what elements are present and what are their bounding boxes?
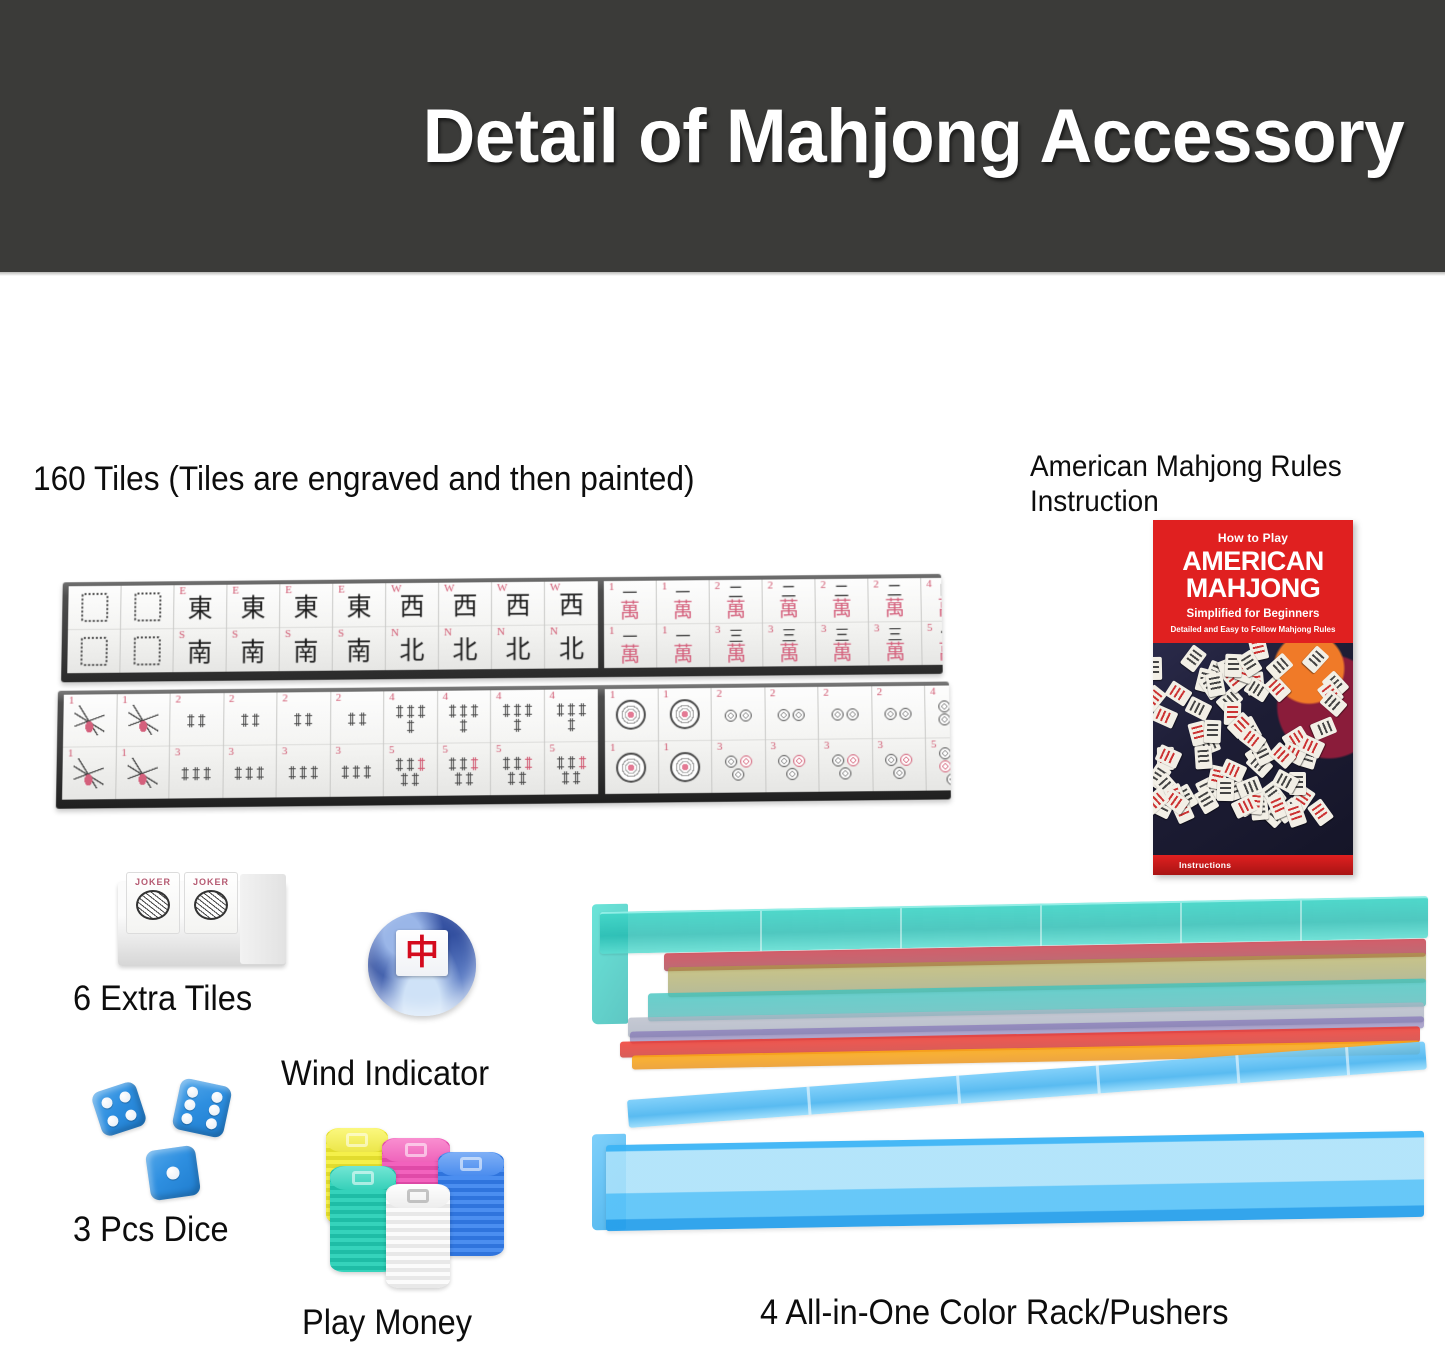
tile-index-mark: 3 xyxy=(175,747,181,758)
booklet-title-line2: MAHJONG xyxy=(1161,575,1345,602)
tile-index-mark: 1 xyxy=(610,743,616,754)
bamboo-tile-icon xyxy=(340,712,374,725)
tile-index-mark: E xyxy=(338,585,345,596)
tile-face: 3 xyxy=(330,744,383,797)
dot-tile-icon xyxy=(881,754,917,779)
dot-one-tile-icon xyxy=(670,752,700,782)
bamboo-tile-icon xyxy=(179,767,213,780)
tile-index-mark: 5 xyxy=(389,745,395,756)
crak-tile-glyph: 二萬 xyxy=(831,584,851,619)
bamboo-tile-icon xyxy=(393,704,427,732)
crak-tile-glyph: 伍萬 xyxy=(938,627,943,662)
crak-tile-glyph: 二萬 xyxy=(884,583,905,618)
tile-face: 1 xyxy=(116,694,169,747)
dot-tile-icon xyxy=(880,707,916,719)
tile-index-mark: W xyxy=(391,584,401,595)
mahjong-tile: 4四萬5伍萬 xyxy=(921,578,943,665)
mahjong-tile: 45 xyxy=(384,691,438,796)
mahjong-tile: 2二萬3三萬 xyxy=(868,578,922,665)
tile-index-mark: 4 xyxy=(926,579,932,590)
tile-index-mark: N xyxy=(550,626,558,637)
tile-face: 4 xyxy=(925,685,951,738)
tile-face: E東 xyxy=(174,585,226,629)
bamboo-tile-icon xyxy=(179,714,213,727)
tile-index-mark: 2 xyxy=(176,695,182,706)
wind-tile-glyph: 西 xyxy=(559,592,584,617)
booklet-subtitle: Simplified for Beginners xyxy=(1161,608,1345,620)
die-six xyxy=(171,1077,233,1139)
mahjong-tile xyxy=(67,586,121,673)
tile-face: 2 xyxy=(223,693,276,746)
tile-index-mark: 3 xyxy=(877,740,883,751)
wind-tile-glyph: 東 xyxy=(188,596,213,621)
tile-index-mark: 5 xyxy=(927,623,933,634)
tile-index-mark: 2 xyxy=(877,687,883,698)
crak-tile-glyph: 一萬 xyxy=(673,585,693,620)
tile-index-mark: 2 xyxy=(823,688,829,699)
tile-face: W西 xyxy=(386,583,438,627)
tile-index-mark: 2 xyxy=(717,689,723,700)
tile-face: 2二萬 xyxy=(710,580,762,624)
caption-racks-pushers: 4 All-in-One Color Rack/Pushers xyxy=(760,1292,1229,1333)
mahjong-tile: 23 xyxy=(169,693,224,799)
dot-tile-icon xyxy=(934,700,951,725)
infographic-page: Detail of Mahjong Accessory 160 Tiles (T… xyxy=(0,0,1445,1346)
wind-tile-glyph: 西 xyxy=(453,593,478,618)
tile-index-mark: 4 xyxy=(549,691,555,702)
tile-face: 5 xyxy=(544,742,598,795)
header-bar: Detail of Mahjong Accessory xyxy=(0,0,1445,272)
tile-group-winds: E東S南E東S南E東S南E東S南W西N北W西N北W西N北W西N北 xyxy=(67,581,598,673)
tile-index-mark: N xyxy=(391,628,399,639)
caption-wind-indicator: Wind Indicator xyxy=(281,1053,489,1094)
tile-face: N北 xyxy=(492,626,544,670)
tile-index-mark: N xyxy=(497,627,505,638)
tile-face: 1 xyxy=(62,747,115,800)
tile-face: 5 xyxy=(491,743,544,796)
tile-face: 3三萬 xyxy=(710,624,762,668)
tile-index-mark: 3 xyxy=(821,624,827,635)
tile-face: 3 xyxy=(819,739,872,792)
extra-tiles-side xyxy=(240,874,286,964)
blank-tile-frame-icon xyxy=(80,637,107,666)
dot-one-tile-icon xyxy=(616,753,646,783)
blue-rack-pusher xyxy=(592,1090,1432,1275)
booklet-howto-label: How to Play xyxy=(1161,531,1345,545)
mahjong-tile: 45 xyxy=(925,685,951,790)
booklet-photo-mini-tile xyxy=(1309,716,1337,740)
booklet-photo-mini-tile xyxy=(1203,720,1221,744)
tile-index-mark: 3 xyxy=(228,747,234,758)
tile-face xyxy=(120,629,173,673)
mahjong-tile: 23 xyxy=(818,686,873,791)
mahjong-tile: E東S南 xyxy=(227,584,281,671)
tile-face: 1 xyxy=(658,688,711,741)
tile-face xyxy=(121,585,174,629)
mahjong-tile: 11 xyxy=(116,694,171,800)
tile-index-mark: E xyxy=(285,585,292,596)
mahjong-tile: 11 xyxy=(62,694,117,800)
play-money-stack-white xyxy=(386,1184,450,1288)
die-four xyxy=(90,1080,148,1138)
tile-face: 5 xyxy=(437,743,490,796)
bamboo-tile-icon xyxy=(447,704,481,732)
bamboo-one-tile-icon xyxy=(128,705,158,735)
tile-face: 1 xyxy=(605,741,658,794)
mahjong-tile: E東S南 xyxy=(173,585,227,672)
bamboo-tile-icon xyxy=(340,765,374,778)
tile-index-mark: 3 xyxy=(874,623,880,634)
bamboo-tile-icon xyxy=(233,714,267,727)
wind-tile-glyph: 北 xyxy=(559,636,584,661)
tile-index-mark: 1 xyxy=(68,749,74,760)
tile-index-mark: 2 xyxy=(770,688,776,699)
tile-group-dots: 11112323232345454545 xyxy=(605,684,951,794)
bamboo-tile-icon xyxy=(447,757,481,785)
tile-face: 2 xyxy=(765,687,818,740)
tile-tray-bottom: 11112323232345454545 1111232323234545454… xyxy=(56,682,951,809)
tile-index-mark: 1 xyxy=(609,582,615,593)
tile-group-bams: 11112323232345454545 xyxy=(62,689,598,800)
mahjong-tile: 45 xyxy=(437,690,491,795)
tile-face: 2 xyxy=(712,687,765,740)
booklet-cover-header: How to Play AMERICAN MAHJONG Simplified … xyxy=(1153,520,1353,643)
mahjong-tile: 45 xyxy=(491,690,545,795)
tile-face: W西 xyxy=(439,582,491,626)
caption-tiles: 160 Tiles (Tiles are engraved and then p… xyxy=(33,459,695,499)
mahjong-tile xyxy=(120,585,174,672)
tile-index-mark: 2 xyxy=(282,693,288,704)
joker-emblem-icon xyxy=(194,890,228,920)
caption-rules-instruction: American Mahjong Rules Instruction xyxy=(1030,449,1421,520)
tile-index-mark: 1 xyxy=(610,690,616,701)
tile-face: 1一萬 xyxy=(604,625,656,669)
joker-tile: JOKER xyxy=(126,872,180,934)
tile-face xyxy=(67,630,120,674)
tile-face: E東 xyxy=(227,584,279,628)
tile-face: 4四萬 xyxy=(921,578,943,622)
bamboo-one-tile-icon xyxy=(74,705,104,735)
tile-face: N北 xyxy=(545,625,598,669)
tile-index-mark: W xyxy=(497,583,507,594)
page-title: Detail of Mahjong Accessory xyxy=(423,93,1445,180)
tile-index-mark: 5 xyxy=(549,743,555,754)
tile-face: 3三萬 xyxy=(763,623,816,667)
joker-tile: JOKER xyxy=(184,872,238,934)
bamboo-tile-icon xyxy=(286,766,320,779)
mahjong-tile: 23 xyxy=(330,691,384,796)
tile-face: 3 xyxy=(223,745,276,798)
tile-face: S南 xyxy=(173,629,226,673)
tile-face: 2 xyxy=(331,691,384,744)
tile-index-mark: 3 xyxy=(768,624,774,635)
tile-index-mark: S xyxy=(232,630,238,641)
dot-tile-icon xyxy=(827,708,863,720)
wind-indicator-tile: 中 xyxy=(396,930,448,976)
tile-index-mark: 2 xyxy=(873,579,879,590)
mahjong-tile: 23 xyxy=(223,693,278,798)
tile-index-mark: 1 xyxy=(662,582,668,593)
tile-face: 2二萬 xyxy=(815,579,868,623)
caption-extra-tiles: 6 Extra Tiles xyxy=(73,978,252,1019)
tile-face: 3 xyxy=(169,746,222,799)
bamboo-tile-icon xyxy=(286,713,320,726)
wind-tile-glyph: 南 xyxy=(346,638,371,663)
tile-index-mark: 2 xyxy=(229,694,235,705)
tile-index-mark: 5 xyxy=(496,744,502,755)
mahjong-tile: E東S南 xyxy=(280,584,334,671)
mahjong-tile: 23 xyxy=(765,687,820,792)
tile-index-mark: 3 xyxy=(335,746,341,757)
tile-index-mark: 1 xyxy=(609,626,615,637)
tile-face: W西 xyxy=(545,581,598,625)
tile-index-mark: E xyxy=(232,586,239,597)
wind-tile-glyph: 北 xyxy=(452,637,477,662)
mahjong-tile: 23 xyxy=(872,686,927,791)
booklet-photo-mini-tile xyxy=(1217,778,1234,801)
tile-face: 1一萬 xyxy=(657,580,709,624)
tile-face: 5 xyxy=(926,738,951,791)
crak-tile-glyph: 三萬 xyxy=(779,628,799,663)
rules-booklet: How to Play AMERICAN MAHJONG Simplified … xyxy=(1153,520,1353,875)
crak-tile-glyph: 三萬 xyxy=(885,627,906,662)
bamboo-tile-icon xyxy=(500,703,534,731)
bamboo-one-tile-icon xyxy=(127,758,157,788)
tile-index-mark: E xyxy=(179,586,186,597)
tile-index-mark: 3 xyxy=(282,746,288,757)
crak-tile-glyph: 二萬 xyxy=(779,584,799,619)
dot-tile-icon xyxy=(773,708,809,720)
tile-face: E東 xyxy=(280,584,332,628)
tile-index-mark: 1 xyxy=(122,695,128,706)
tile-index-mark: 3 xyxy=(717,742,723,753)
mahjong-tile: 1一萬1一萬 xyxy=(604,581,657,668)
dot-tile-icon xyxy=(827,754,863,779)
mahjong-tile: 23 xyxy=(277,692,331,797)
wind-tile-glyph: 西 xyxy=(505,593,530,618)
tile-face: 5 xyxy=(384,744,437,797)
tile-index-mark: 4 xyxy=(496,691,501,702)
tile-face: 3 xyxy=(765,740,818,793)
mahjong-tile: 45 xyxy=(544,689,598,794)
extra-tiles-stack: JOKER JOKER xyxy=(118,872,286,968)
tile-face: 3 xyxy=(872,739,925,792)
tile-index-mark: 4 xyxy=(930,687,936,698)
tile-index-mark: 2 xyxy=(715,581,721,592)
booklet-footer-bar: Instructions xyxy=(1153,855,1353,875)
tile-index-mark: 1 xyxy=(662,625,668,636)
joker-emblem-icon xyxy=(136,890,170,920)
tile-face: 2 xyxy=(277,692,330,745)
tile-face: 1 xyxy=(658,741,711,794)
booklet-photo-mini-tile xyxy=(1194,746,1212,770)
crak-tile-glyph: 二萬 xyxy=(726,585,746,620)
wind-tile-glyph: 東 xyxy=(294,595,319,620)
tile-face xyxy=(68,586,121,630)
mahjong-tile: 2二萬3三萬 xyxy=(763,579,817,666)
joker-tile-label: JOKER xyxy=(193,877,229,887)
dot-tile-icon xyxy=(934,747,951,785)
tile-index-mark: 3 xyxy=(824,741,830,752)
tile-index-mark: 1 xyxy=(663,689,669,700)
booklet-photo-mini-tile xyxy=(1265,653,1293,681)
tile-index-mark: 5 xyxy=(442,745,448,756)
tile-face: 3 xyxy=(277,745,330,798)
booklet-cover-photo xyxy=(1153,643,1353,855)
dot-tile-icon xyxy=(720,755,756,780)
tile-face: S南 xyxy=(227,628,279,672)
tile-index-mark: 1 xyxy=(663,742,669,753)
mahjong-tile: W西N北 xyxy=(492,582,545,669)
tile-face: 1一萬 xyxy=(604,581,656,625)
wind-tile-glyph: 北 xyxy=(399,638,424,663)
bamboo-tile-icon xyxy=(500,756,534,784)
tile-face: E東 xyxy=(333,583,385,627)
wind-tile-glyph: 北 xyxy=(505,637,530,662)
mahjong-tile: 11 xyxy=(605,689,659,794)
tile-index-mark: S xyxy=(285,629,291,640)
tile-face: S南 xyxy=(333,627,385,671)
tile-index-mark: N xyxy=(444,627,452,638)
blue-rack-body xyxy=(606,1131,1424,1231)
tile-face: 2 xyxy=(872,686,925,739)
tile-face: 3三萬 xyxy=(816,622,869,666)
header-divider xyxy=(0,272,1445,276)
crak-tile-glyph: 一萬 xyxy=(620,586,640,621)
dot-one-tile-icon xyxy=(616,700,646,730)
tile-face: 1一萬 xyxy=(657,624,709,668)
crak-tile-glyph: 一萬 xyxy=(620,630,640,665)
wind-tile-glyph: 南 xyxy=(293,639,318,664)
bamboo-tile-icon xyxy=(554,756,588,784)
tile-face: 3三萬 xyxy=(869,622,922,666)
tile-face: 1 xyxy=(605,689,658,742)
tile-index-mark: 2 xyxy=(336,693,342,704)
tile-face: 4 xyxy=(384,691,437,744)
tile-face: S南 xyxy=(280,628,332,672)
booklet-photo-mini-tile xyxy=(1307,798,1334,827)
tile-face: 4 xyxy=(438,690,491,743)
wind-tile-glyph: 東 xyxy=(241,595,266,620)
crak-tile-glyph: 一萬 xyxy=(673,629,693,664)
booklet-footer-label: Instructions xyxy=(1179,860,1231,870)
tile-face: 2二萬 xyxy=(763,579,815,623)
tile-face: 2 xyxy=(818,686,871,739)
tile-index-mark: W xyxy=(550,583,560,594)
caption-play-money: Play Money xyxy=(302,1302,472,1343)
tile-face: 1 xyxy=(116,747,169,800)
tile-face: 5伍萬 xyxy=(922,621,943,665)
dot-one-tile-icon xyxy=(669,699,699,729)
tile-index-mark: W xyxy=(444,584,454,595)
mahjong-tile: 2二萬3三萬 xyxy=(815,579,869,666)
red-dragon-glyph: 中 xyxy=(405,936,439,970)
tile-index-mark: 1 xyxy=(121,748,127,759)
tile-index-mark: 3 xyxy=(715,625,721,636)
tile-face: 2二萬 xyxy=(868,578,921,622)
booklet-photo-mini-tile xyxy=(1302,645,1330,673)
mahjong-tile: 11 xyxy=(658,688,712,793)
crak-tile-glyph: 三萬 xyxy=(726,629,746,664)
die-one xyxy=(145,1145,201,1201)
blank-tile-frame-icon xyxy=(134,592,161,621)
blank-tile-frame-icon xyxy=(133,636,160,665)
crak-tile-glyph: 三萬 xyxy=(832,628,852,663)
tile-index-mark: 5 xyxy=(931,739,937,750)
bamboo-tile-icon xyxy=(232,766,266,779)
booklet-photo-mini-tile xyxy=(1184,696,1212,722)
wind-tile-glyph: 東 xyxy=(347,594,372,619)
dot-tile-icon xyxy=(720,709,756,721)
mahjong-tile: W西N北 xyxy=(386,583,439,670)
tile-face: N北 xyxy=(386,627,438,671)
mahjong-tile: E東S南 xyxy=(333,583,386,670)
wind-tile-glyph: 西 xyxy=(400,594,425,619)
wind-indicator: 中 xyxy=(368,912,476,1016)
bamboo-one-tile-icon xyxy=(74,758,105,788)
mahjong-tile: 1一萬1一萬 xyxy=(657,580,711,667)
dot-tile-icon xyxy=(774,755,810,780)
tile-index-mark: S xyxy=(179,630,185,641)
crak-tile-glyph: 四萬 xyxy=(937,583,943,618)
tile-index-mark: 4 xyxy=(389,692,395,703)
mahjong-tile: W西N北 xyxy=(439,582,492,669)
tile-face: 4 xyxy=(491,690,543,743)
tile-face: W西 xyxy=(492,582,544,626)
joker-tile-label: JOKER xyxy=(135,877,171,887)
mahjong-tile: 23 xyxy=(712,687,766,792)
mahjong-tile: 2二萬3三萬 xyxy=(710,580,764,667)
tile-index-mark: 2 xyxy=(820,580,826,591)
bamboo-tile-icon xyxy=(393,757,427,785)
tile-tray-top: E東S南E東S南E東S南E東S南W西N北W西N北W西N北W西N北 1一萬1一萬1… xyxy=(61,574,943,682)
booklet-tagline: Detailed and Easy to Follow Mahjong Rule… xyxy=(1161,625,1345,634)
tile-group-craks: 1一萬1一萬1一萬1一萬2二萬3三萬2二萬3三萬2二萬3三萬2二萬3三萬4四萬5… xyxy=(604,576,943,668)
tile-index-mark: 2 xyxy=(768,581,774,592)
tile-face: 2 xyxy=(170,693,223,746)
mahjong-tile: W西N北 xyxy=(545,581,598,668)
bamboo-tile-icon xyxy=(554,703,588,731)
tile-face: 3 xyxy=(712,740,765,793)
wind-tile-glyph: 南 xyxy=(187,640,212,665)
tile-index-mark: 4 xyxy=(443,692,449,703)
tile-index-mark: 1 xyxy=(69,696,75,707)
tile-index-mark: S xyxy=(338,629,344,640)
tile-face: N北 xyxy=(439,626,491,670)
blank-tile-frame-icon xyxy=(81,593,108,622)
tile-face: 1 xyxy=(63,694,116,747)
caption-dice: 3 Pcs Dice xyxy=(73,1209,229,1250)
tile-face: 4 xyxy=(544,689,598,742)
booklet-photo-mini-tile xyxy=(1153,657,1162,680)
tile-index-mark: 3 xyxy=(770,741,776,752)
booklet-title-line1: AMERICAN xyxy=(1161,548,1345,575)
wind-tile-glyph: 南 xyxy=(240,639,265,664)
